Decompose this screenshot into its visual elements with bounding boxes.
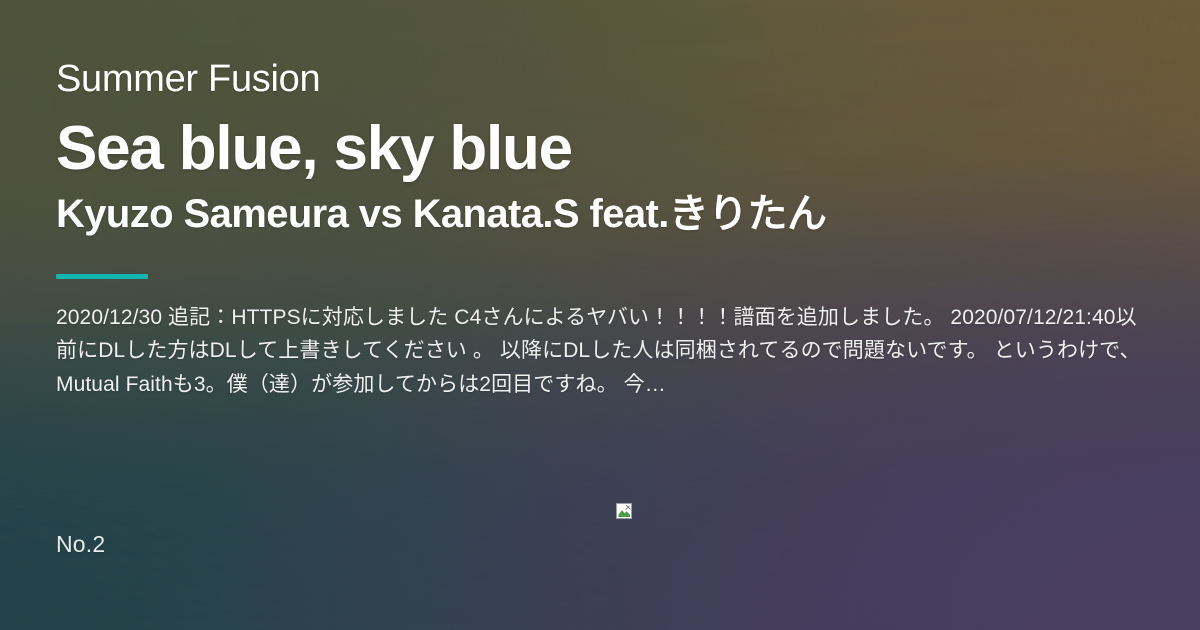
description-text: 2020/12/30 追記：HTTPSに対応しました C4さんによるヤバい！！！… [56,301,1144,401]
card-content: Summer Fusion Sea blue, sky blue Kyuzo S… [0,0,1200,630]
page-title: Sea blue, sky blue [56,114,1144,183]
broken-image-icon [616,503,633,520]
collection-name: Summer Fusion [56,58,1144,102]
artist-byline: Kyuzo Sameura vs Kanata.S feat.きりたん [56,191,1144,238]
accent-divider [56,274,148,279]
share-card: Summer Fusion Sea blue, sky blue Kyuzo S… [0,0,1200,630]
